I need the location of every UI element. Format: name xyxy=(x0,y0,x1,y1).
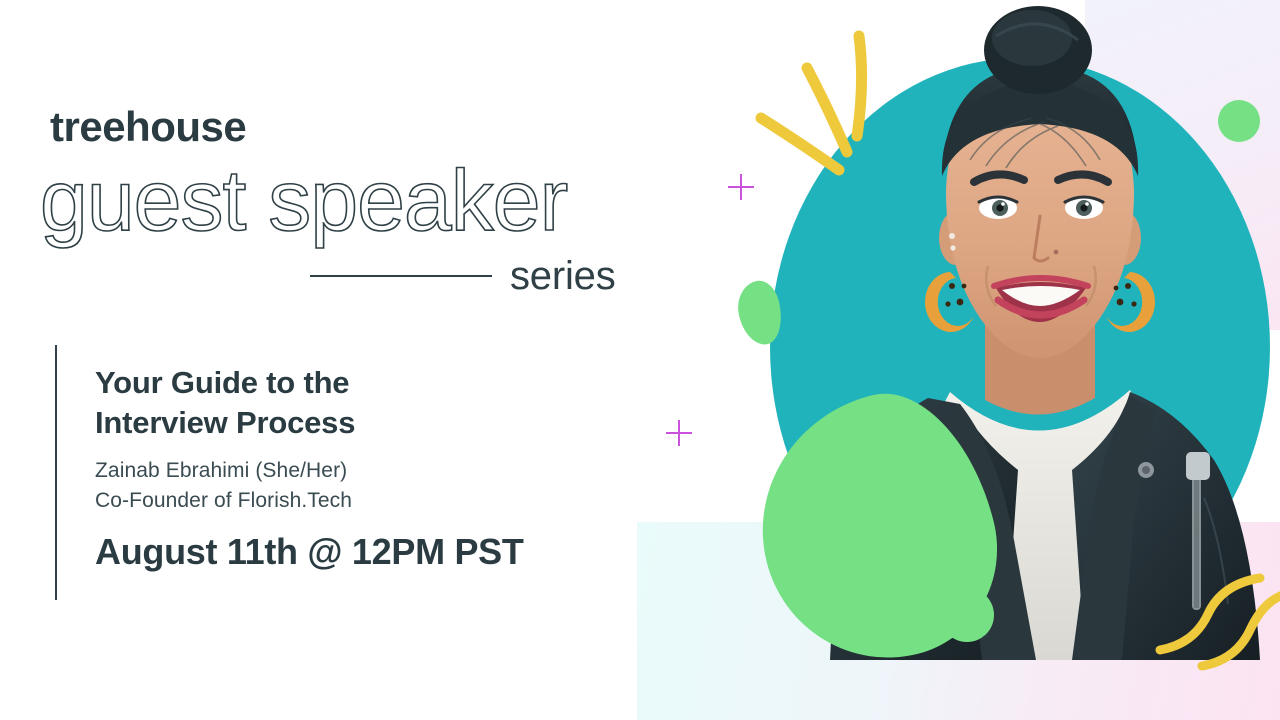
plus-mark-icon-lower xyxy=(666,420,692,446)
talk-title-line1: Your Guide to the xyxy=(95,365,349,400)
talk-title-line2: Interview Process xyxy=(95,405,355,440)
presentation-slide: treehouse guest speaker series Your Guid… xyxy=(0,0,1280,720)
event-date-time: August 11th @ 12PM PST xyxy=(95,534,524,570)
brand-wordmark: treehouse xyxy=(50,106,246,148)
headline-outline-text: guest speaker xyxy=(40,158,567,244)
series-row: series xyxy=(310,256,616,296)
series-label: series xyxy=(510,256,616,296)
speaker-name: Zainab Ebrahimi (She/Her) xyxy=(95,456,524,486)
yellow-sparkle-strokes xyxy=(735,18,905,198)
talk-title: Your Guide to the Interview Process xyxy=(95,363,524,442)
event-info-block: Your Guide to the Interview Process Zain… xyxy=(55,345,524,600)
speaker-role: Co-Founder of Florish.Tech xyxy=(95,486,524,516)
series-divider-rule xyxy=(310,275,492,277)
yellow-squiggle-strokes xyxy=(1150,570,1280,720)
green-dot-bottom xyxy=(940,588,994,642)
